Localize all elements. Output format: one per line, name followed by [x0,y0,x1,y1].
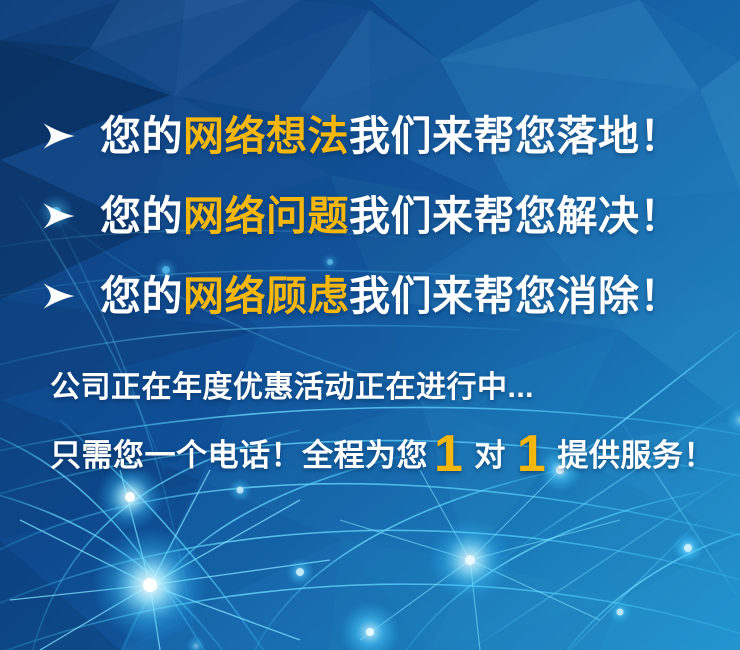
headline-2-prefix: 您的 [100,193,183,239]
arrow-right-icon [42,281,76,311]
subline-2-part1: 只需您一个电话！全程为您 [50,438,428,473]
headline-2-highlight: 网络问题 [183,193,349,239]
headline-1-highlight: 网络想法 [183,113,349,159]
headline-1-prefix: 您的 [100,113,183,159]
one-to-one-middle: 对 [469,438,511,473]
headline-1-suffix: 我们来帮您落地！ [349,113,681,159]
arrow-right-icon [42,201,76,231]
headline-2-suffix: 我们来帮您解决！ [349,193,681,239]
headline-text-1: 您的网络想法我们来帮您落地！ [100,116,681,157]
headline-row-3: 您的网络顾虑我们来帮您消除！ [0,256,740,336]
banner-content: 您的网络想法我们来帮您落地！ 您的网络问题我们来帮您解决！ 您的网络顾虑我们来帮… [0,0,740,650]
headline-3-suffix: 我们来帮您消除！ [349,273,681,319]
headline-list: 您的网络想法我们来帮您落地！ 您的网络问题我们来帮您解决！ 您的网络顾虑我们来帮… [0,96,740,336]
headline-3-prefix: 您的 [100,273,183,319]
one-to-one-first-number: 1 [428,425,469,483]
one-to-one-second-number: 1 [511,425,552,483]
headline-text-2: 您的网络问题我们来帮您解决！ [100,196,681,237]
subline-2-part2: 提供服务！ [552,438,720,473]
headline-row-1: 您的网络想法我们来帮您落地！ [0,96,740,176]
promo-subline-1: 公司正在年度优惠活动正在进行中... [50,362,534,406]
headline-text-3: 您的网络顾虑我们来帮您消除！ [100,276,681,317]
headline-row-2: 您的网络问题我们来帮您解决！ [0,176,740,256]
promo-subline-2: 只需您一个电话！全程为您1对1提供服务！ [50,430,720,475]
promo-banner: 您的网络想法我们来帮您落地！ 您的网络问题我们来帮您解决！ 您的网络顾虑我们来帮… [0,0,740,650]
arrow-right-icon [42,121,76,151]
headline-3-highlight: 网络顾虑 [183,273,349,319]
